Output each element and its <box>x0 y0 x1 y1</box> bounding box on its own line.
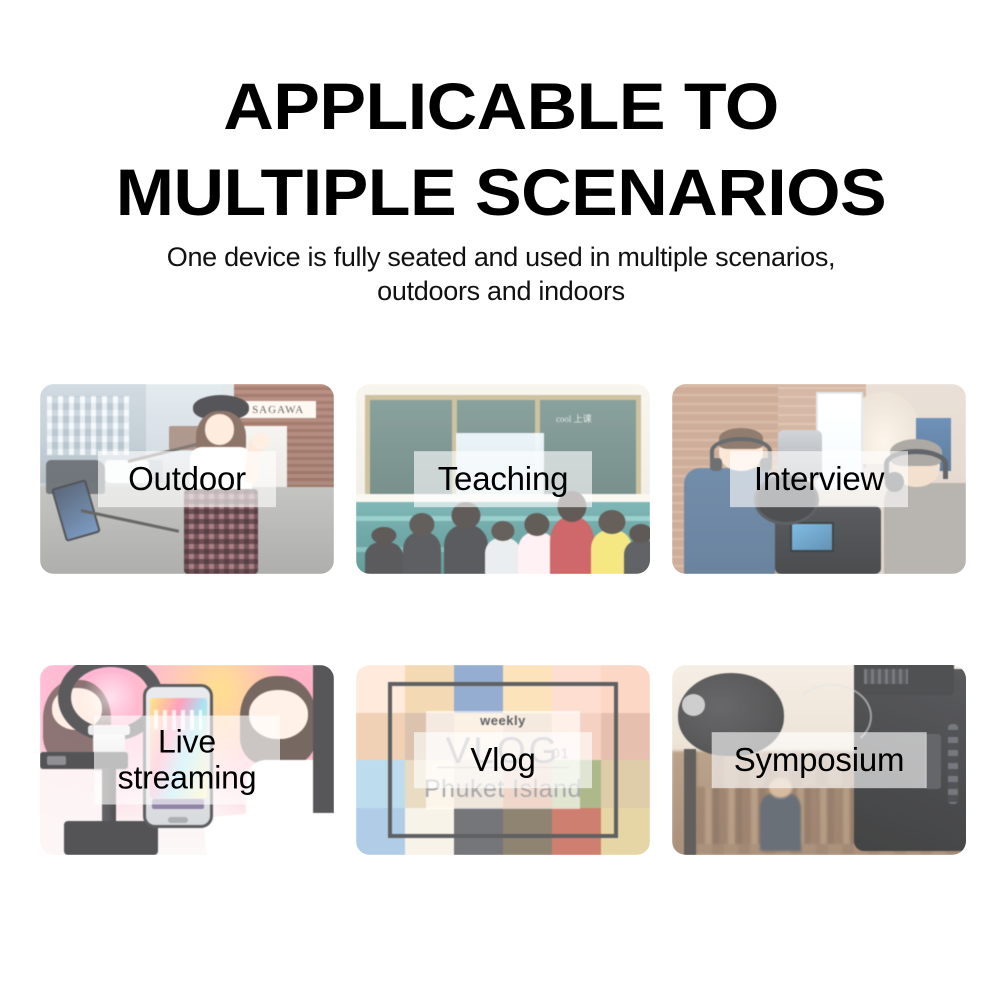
headline-line-1: APPLICABLE TO <box>0 74 1002 139</box>
camera-lcd-screen <box>790 522 834 552</box>
person-face <box>205 414 234 444</box>
scenario-card-outdoor[interactable]: SAGAWA Outdoor <box>40 384 334 574</box>
poster-page: APPLICABLE TO MULTIPLE SCENARIOS One dev… <box>0 0 1002 1002</box>
headline-line-2: MULTIPLE SCENARIOS <box>0 160 1002 225</box>
scenario-label-live-streaming: Live streaming <box>118 724 257 797</box>
student <box>624 540 650 574</box>
scenario-card-interview[interactable]: Interview <box>672 384 966 574</box>
camera-top-module <box>854 665 954 695</box>
scenario-label-vlog: Vlog <box>470 742 535 778</box>
shop-sign: SAGAWA <box>240 401 316 418</box>
subtitle-line-1: One device is fully seated and used in m… <box>0 240 1002 274</box>
phone-home-bar <box>168 817 189 823</box>
student <box>444 525 488 574</box>
student <box>485 538 520 574</box>
subtitle-line-2: outdoors and indoors <box>0 274 1002 308</box>
scenario-label-teaching: Teaching <box>438 461 569 497</box>
tripod-base <box>64 821 158 855</box>
vlog-kicker: weekly <box>392 713 613 728</box>
shop-sign-text: SAGAWA <box>240 401 316 418</box>
scenario-label-interview: Interview <box>754 461 884 497</box>
page-subtitle: One device is fully seated and used in m… <box>0 240 1002 308</box>
page-header: APPLICABLE TO MULTIPLE SCENARIOS One dev… <box>0 0 1002 308</box>
camera-side-panel <box>925 734 941 789</box>
speaker-person <box>760 794 801 851</box>
scenario-card-vlog[interactable]: weekly VLOG 01 Phuket Island Vlog <box>356 665 650 855</box>
scenario-grid: SAGAWA Outdoor <box>40 384 962 855</box>
light-stand <box>684 749 696 855</box>
scenario-label-band: Live streaming <box>94 716 280 805</box>
student <box>365 542 403 574</box>
person-hand <box>252 433 270 448</box>
scenario-card-live-streaming[interactable]: Live streaming <box>40 665 334 855</box>
scenario-label-band: Outdoor <box>98 451 276 507</box>
white-sheet <box>203 808 307 855</box>
camera-knobs <box>948 724 957 804</box>
scenario-label-band: Teaching <box>414 451 592 507</box>
scenario-label-outdoor: Outdoor <box>128 461 246 497</box>
scenario-label-band: Interview <box>730 451 908 507</box>
student <box>403 532 441 574</box>
scenario-label-band: Symposium <box>712 732 927 788</box>
scenario-label-symposium: Symposium <box>734 742 905 778</box>
scenario-label-band: Vlog <box>414 732 592 788</box>
rig-side-bar <box>313 665 334 813</box>
student <box>550 517 594 574</box>
scenario-card-teaching[interactable]: cool 上课 Teaching <box>356 384 650 574</box>
scenario-card-symposium[interactable]: Symposium <box>672 665 966 855</box>
